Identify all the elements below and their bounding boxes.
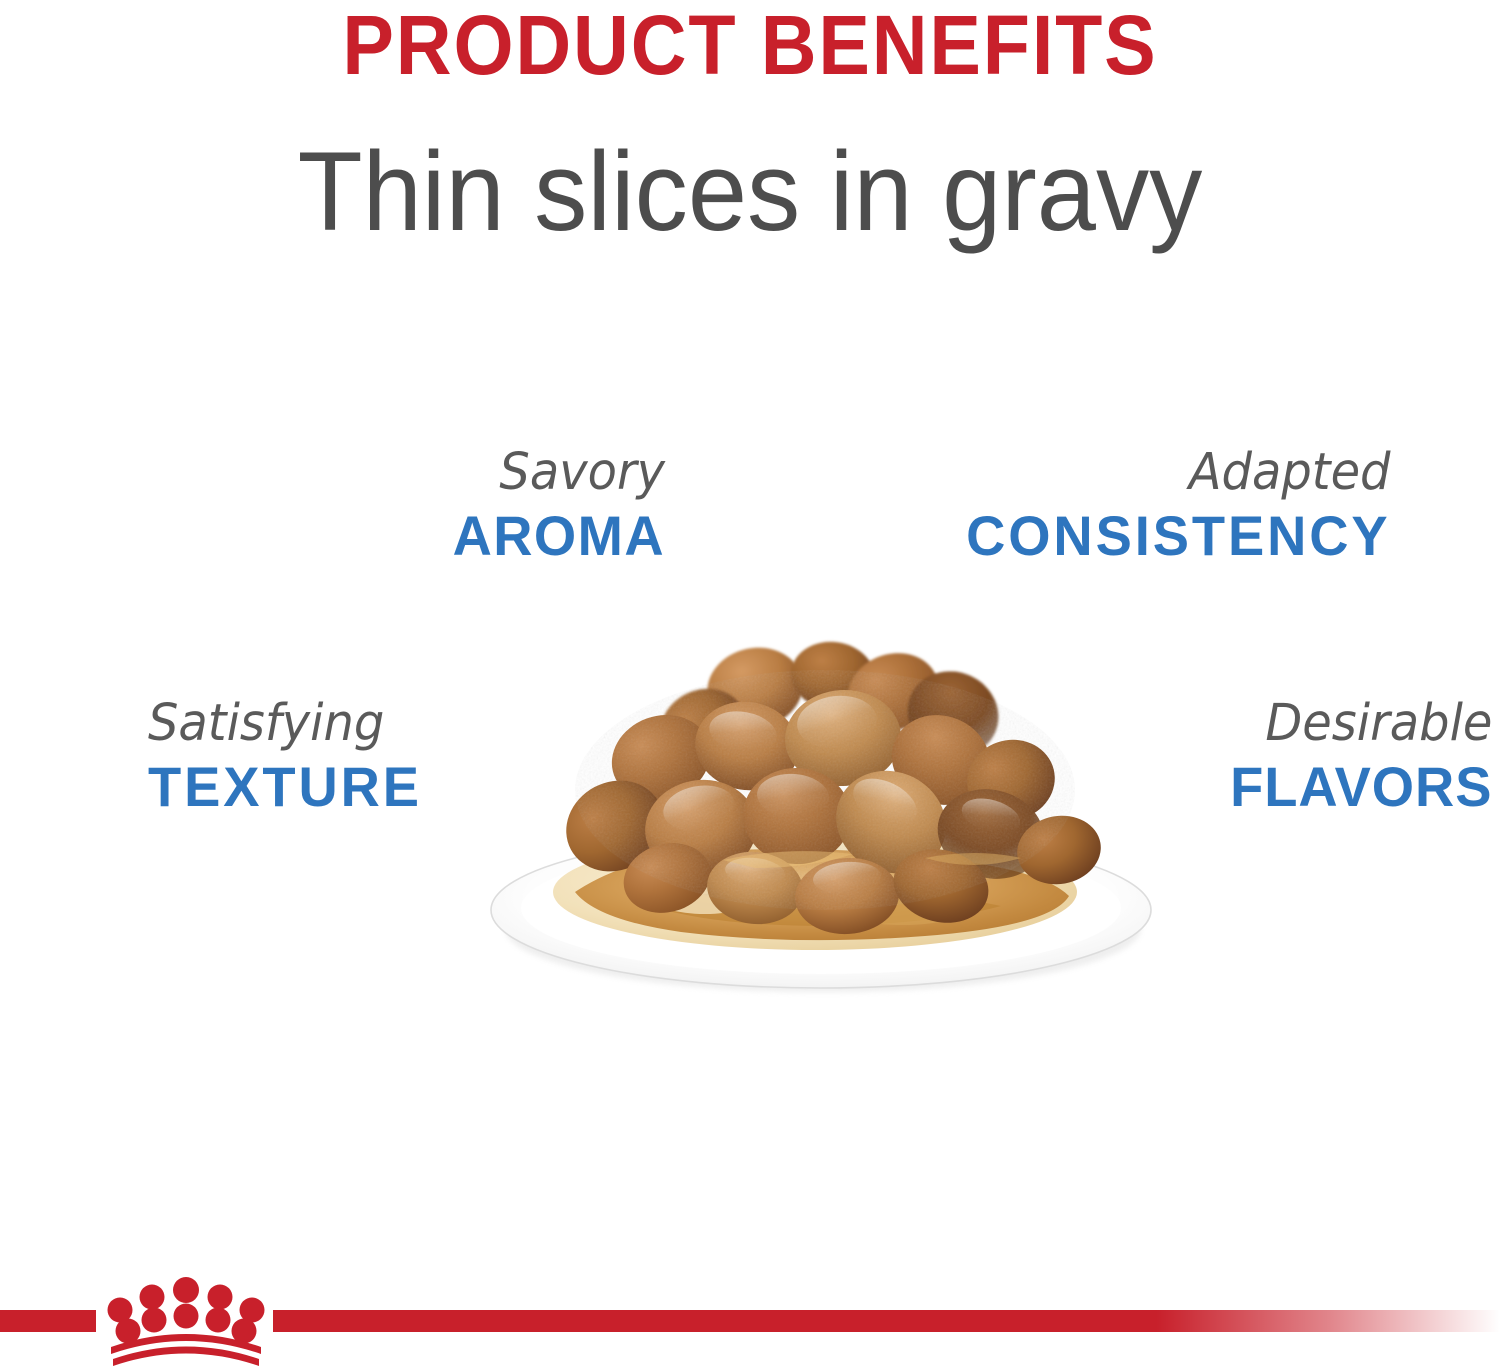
benefit-texture-keyword: TEXTURE [148,754,422,820]
page-subtitle: Thin slices in gravy [38,88,1463,250]
benefit-consistency-keyword: CONSISTENCY [966,503,1390,569]
royal-canin-crown [108,1277,265,1366]
meat-texture [575,670,1075,910]
benefit-texture-descriptor: Satisfying [148,694,413,754]
header: PRODUCT BENEFITS Thin slices in gravy [0,0,1500,250]
brand-footer [0,1276,1500,1370]
brand-rule-right [273,1310,1500,1332]
benefit-consistency: Adapted CONSISTENCY [953,443,1391,569]
benefit-flavors-descriptor: Desirable [1238,694,1492,754]
benefit-flavors-keyword: FLAVORS [1230,754,1492,820]
benefit-flavors: Desirable FLAVORS [1222,694,1492,820]
benefit-texture: Satisfying TEXTURE [148,694,430,820]
brand-rule-left [0,1310,96,1332]
benefit-aroma: Savory AROMA [446,443,665,569]
benefit-aroma-descriptor: Savory [459,443,665,503]
benefit-consistency-descriptor: Adapted [979,443,1390,503]
benefit-aroma-keyword: AROMA [453,503,665,569]
product-photo [455,610,1185,1010]
page-title: PRODUCT BENEFITS [60,0,1440,88]
